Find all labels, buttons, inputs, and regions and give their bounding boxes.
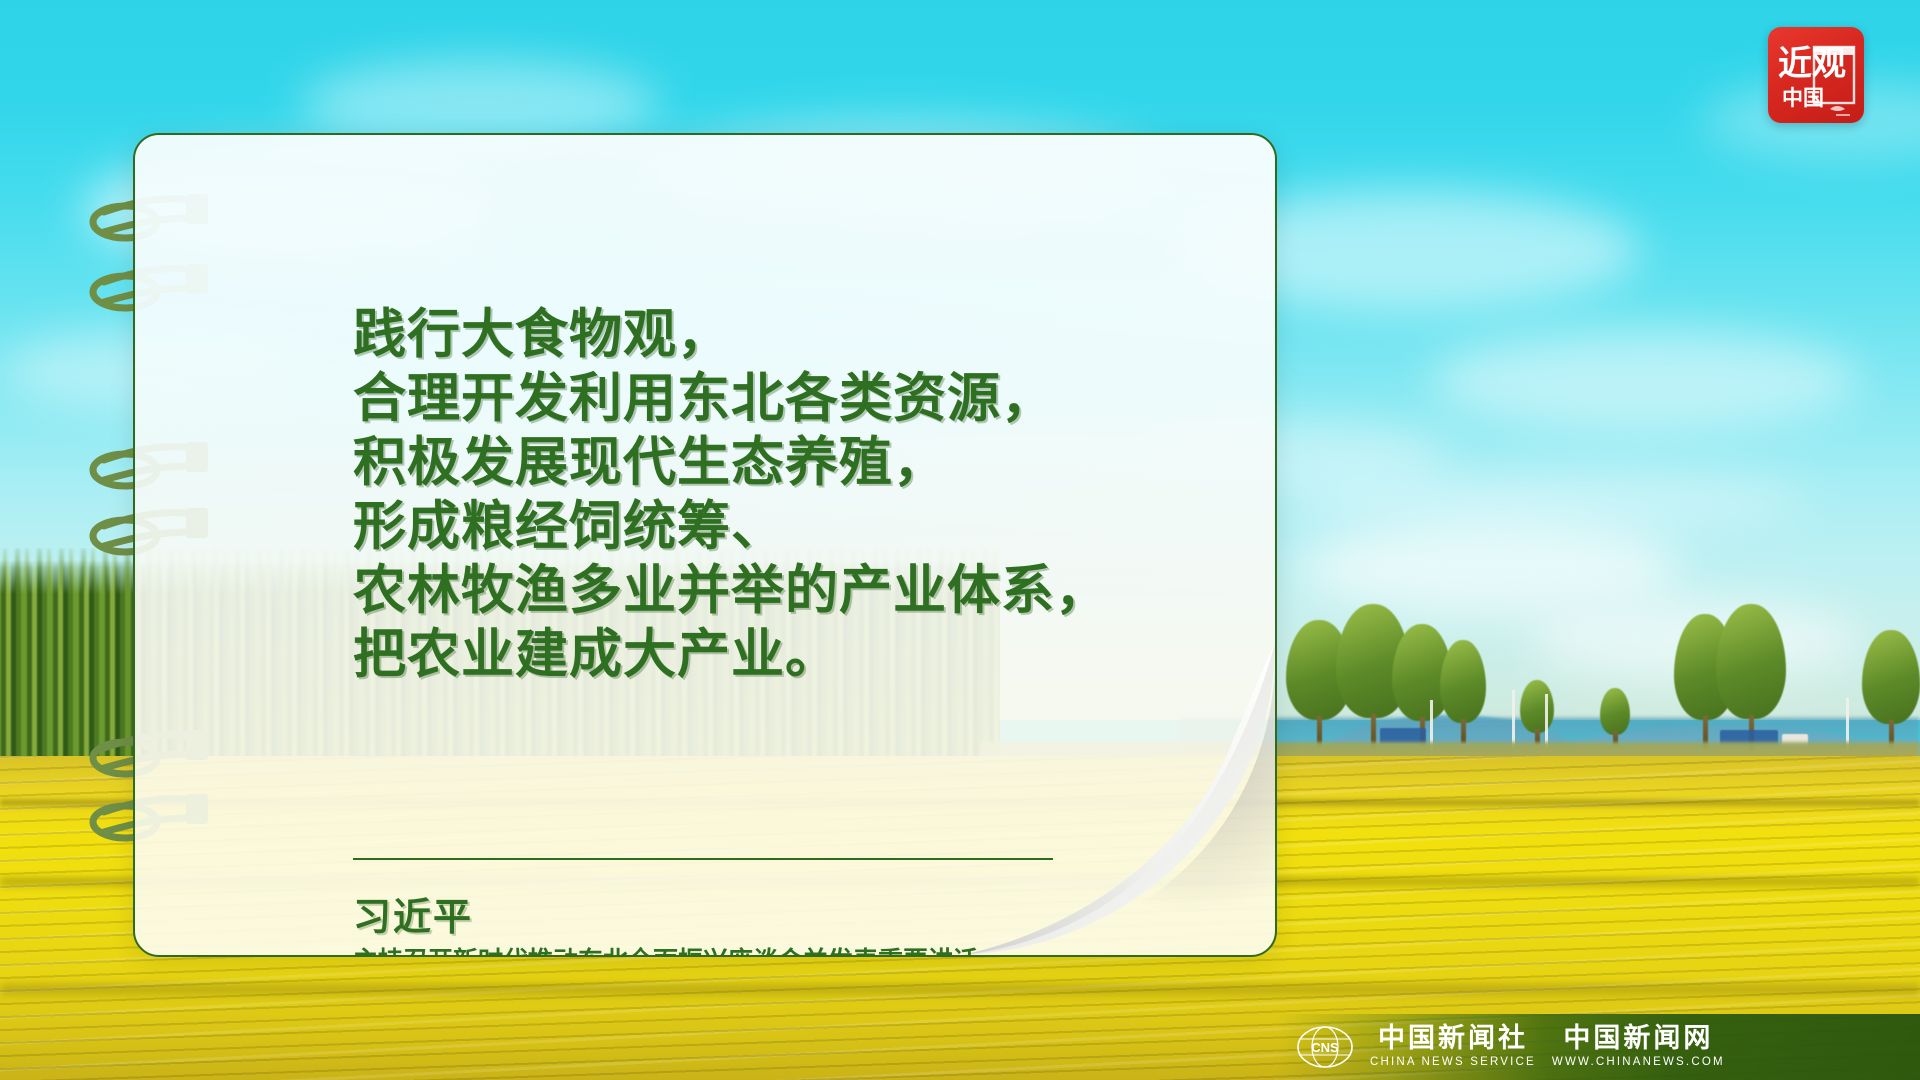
logo-line2: 中国 [1782, 86, 1824, 110]
field-furrow [0, 985, 1920, 999]
cns-mark: CNS [1311, 1040, 1339, 1055]
agency-name-cn: 中国新闻社 [1378, 1025, 1528, 1052]
tree-icon [1600, 688, 1630, 748]
jinguan-zhongguo-icon: 近观 中国 [1768, 27, 1864, 123]
logo-line1: 近观 [1778, 44, 1846, 84]
cns-globe-icon: CNS [1296, 1025, 1354, 1069]
tree-icon [1520, 680, 1554, 748]
speaker-name: 习近平 [353, 886, 473, 941]
agency-block: 中国新闻社 CHINA NEWS SERVICE [1370, 1025, 1536, 1069]
quote-text: 践行大食物观， 合理开发利用东北各类资源， 积极发展现代生态养殖， 形成粮经饲统… [353, 303, 1277, 687]
cloud-icon [1430, 330, 1860, 430]
divider [353, 858, 1053, 860]
utility-pole [1512, 690, 1515, 748]
utility-pole [1545, 694, 1548, 748]
cloud-icon [1290, 470, 1810, 530]
site-name-cn: 中国新闻网 [1563, 1025, 1713, 1052]
tree-icon [1440, 640, 1486, 746]
brand-logo[interactable]: 近观 中国 [1768, 27, 1864, 123]
agency-name-en: CHINA NEWS SERVICE [1370, 1057, 1536, 1069]
poster-canvas: 践行大食物观， 合理开发利用东北各类资源， 积极发展现代生态养殖， 形成粮经饲统… [0, 0, 1920, 1080]
attribution-meta: 主持召开新时代推动东北全面振兴座谈会并发表重要讲话 2023年9月7日 [353, 943, 1253, 957]
quote-card: 践行大食物观， 合理开发利用东北各类资源， 积极发展现代生态养殖， 形成粮经饲统… [133, 133, 1277, 957]
site-url: WWW.CHINANEWS.COM [1552, 1057, 1725, 1069]
footer-watermark: CNS 中国新闻社 CHINA NEWS SERVICE 中国新闻网 WWW.C… [1276, 1014, 1920, 1080]
cloud-icon [1300, 520, 1680, 615]
site-block: 中国新闻网 WWW.CHINANEWS.COM [1552, 1025, 1725, 1069]
tree-icon [1862, 630, 1920, 750]
